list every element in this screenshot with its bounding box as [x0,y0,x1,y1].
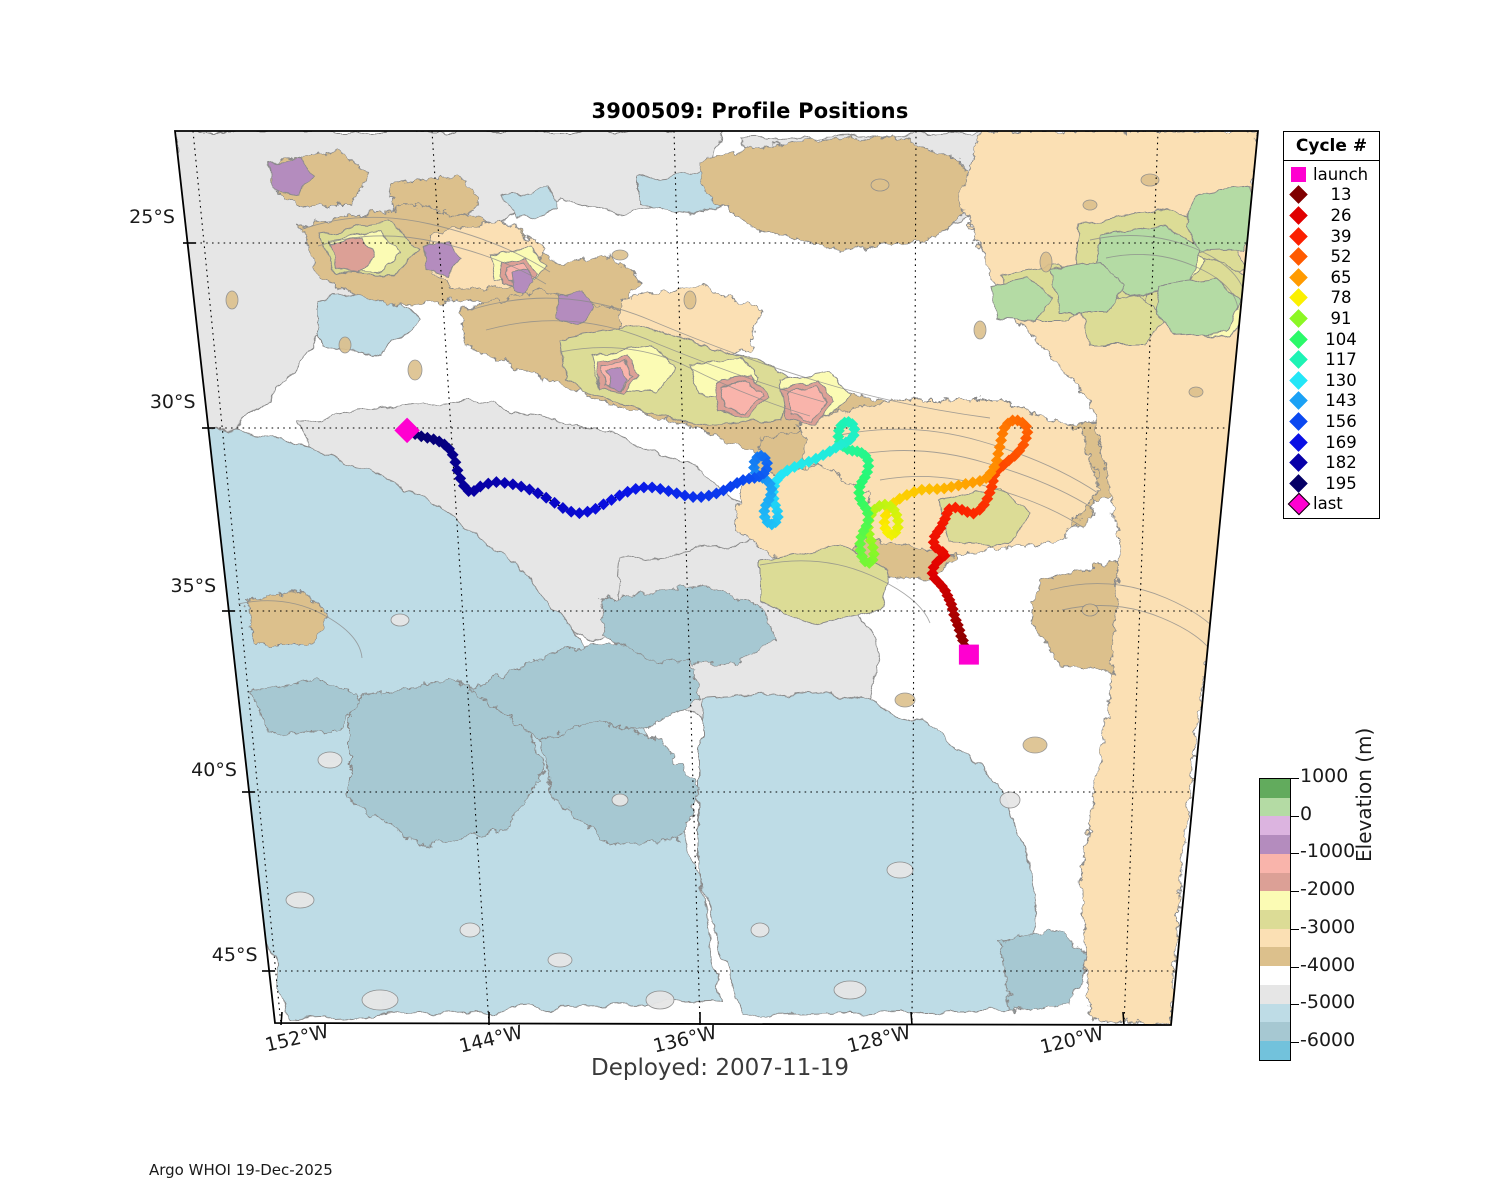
cycle-legend-label-156: 156 [1307,412,1379,431]
elevation-colorbar [1259,778,1291,1061]
cycle-legend-label-143: 143 [1307,391,1379,410]
cycle-legend-row-104[interactable]: 104 [1284,329,1379,350]
cycle-legend-marker-65 [1290,269,1307,286]
cycle-legend-row-143[interactable]: 143 [1284,391,1379,412]
colorbar-tick--5000: -5000 [1300,991,1355,1013]
deployed-label: Deployed: 2007-11-19 [360,1055,1080,1081]
colorbar-band--1500 [1260,873,1290,892]
lat-tick-label-4: 45°S [176,944,258,966]
colorbar-band-500 [1260,798,1290,817]
colorbar-band--3000 [1260,929,1290,948]
colorbar-tick--1000: -1000 [1300,840,1355,862]
cycle-legend-label-last: last [1307,494,1379,513]
cycle-legend-marker-91 [1290,310,1307,327]
cycle-legend-row-130[interactable]: 130 [1284,370,1379,391]
cycle-legend-label-39: 39 [1307,227,1379,246]
cycle-legend-row-91[interactable]: 91 [1284,308,1379,329]
lat-tick-label-2: 35°S [134,575,216,597]
colorbar-band--3500 [1260,947,1290,966]
cycle-legend-row-last[interactable]: last [1284,494,1379,515]
colorbar-tick-0: 0 [1300,803,1312,825]
cycle-legend-row-156[interactable]: 156 [1284,411,1379,432]
footer-credit: Argo WHOI 19-Dec-2025 [149,1161,333,1179]
cycle-legend-marker-195 [1290,475,1307,492]
cycle-legend-label-117: 117 [1307,350,1379,369]
colorbar-band--4500 [1260,985,1290,1004]
cycle-legend-marker-78 [1290,289,1307,306]
cycle-legend-label-78: 78 [1307,288,1379,307]
colorbar-band--1000 [1260,854,1290,873]
colorbar-axis-label: Elevation (m) [1352,728,1376,862]
cycle-legend-row-26[interactable]: 26 [1284,205,1379,226]
cycle-legend-row-182[interactable]: 182 [1284,452,1379,473]
cycle-legend-marker-52 [1290,248,1307,265]
cycle-legend-marker-130 [1290,372,1307,389]
colorbar-band--5000 [1260,1004,1290,1023]
colorbar-tickmark--4000 [1291,967,1299,968]
cycle-legend-title: Cycle # [1284,132,1379,161]
cycle-legend-label-65: 65 [1307,268,1379,287]
cycle-legend-row-78[interactable]: 78 [1284,288,1379,309]
cycle-legend-label-130: 130 [1307,371,1379,390]
cycle-legend: Cycle # launch13263952657891104117130143… [1283,131,1380,519]
colorbar-tick--3000: -3000 [1300,916,1355,938]
colorbar-tick--6000: -6000 [1300,1029,1355,1051]
cycle-legend-label-195: 195 [1307,474,1379,493]
cycle-legend-marker-13 [1290,186,1307,203]
cycle-legend-marker-26 [1290,207,1307,224]
cycle-legend-label-26: 26 [1307,206,1379,225]
colorbar-band--2000 [1260,891,1290,910]
cycle-legend-row-39[interactable]: 39 [1284,226,1379,247]
colorbar-tick-1000: 1000 [1300,765,1348,787]
cycle-legend-marker-117 [1290,351,1307,368]
terrain-fill [170,125,1265,1030]
cycle-legend-label-52: 52 [1307,247,1379,266]
colorbar-tick--4000: -4000 [1300,954,1355,976]
cycle-legend-label-launch: launch [1307,165,1379,184]
cycle-legend-row-13[interactable]: 13 [1284,185,1379,206]
colorbar-tickmark-1000 [1291,778,1299,779]
colorbar-tick--2000: -2000 [1300,878,1355,900]
cycle-legend-marker-169 [1290,434,1307,451]
cycle-legend-marker-143 [1290,392,1307,409]
colorbar-band-1000 [1260,779,1290,798]
cycle-legend-marker-last [1290,495,1307,512]
cycle-legend-label-104: 104 [1307,330,1379,349]
colorbar-tickmark--5000 [1291,1004,1299,1005]
lat-tick-label-3: 40°S [155,759,237,781]
lat-tick-label-0: 25°S [93,206,175,228]
colorbar-tickmark-0 [1291,816,1299,817]
cycle-legend-row-117[interactable]: 117 [1284,349,1379,370]
colorbar-band--4000 [1260,966,1290,985]
colorbar-band--500 [1260,835,1290,854]
colorbar-tickmark--1000 [1291,853,1299,854]
colorbar-tickmark--3000 [1291,929,1299,930]
cycle-legend-row-195[interactable]: 195 [1284,473,1379,494]
cycle-legend-row-169[interactable]: 169 [1284,432,1379,453]
cycle-legend-row-52[interactable]: 52 [1284,246,1379,267]
colorbar-band--5500 [1260,1022,1290,1041]
cycle-legend-label-169: 169 [1307,433,1379,452]
launch-marker [959,645,979,665]
colorbar-band--2500 [1260,910,1290,929]
cycle-legend-row-launch[interactable]: launch [1284,164,1379,185]
cycle-legend-marker-launch [1290,166,1307,183]
cycle-legend-row-65[interactable]: 65 [1284,267,1379,288]
colorbar-tickmark--2000 [1291,891,1299,892]
cycle-legend-label-182: 182 [1307,453,1379,472]
colorbar-tickmark--6000 [1291,1042,1299,1043]
cycle-legend-marker-104 [1290,331,1307,348]
lat-tick-label-1: 30°S [114,391,196,413]
cycle-legend-label-91: 91 [1307,309,1379,328]
cycle-legend-marker-39 [1290,228,1307,245]
colorbar-band--6000 [1260,1041,1290,1060]
cycle-legend-marker-182 [1290,454,1307,471]
cycle-legend-items: launch1326395265789110411713014315616918… [1284,161,1379,518]
page-title: 3900509: Profile Positions [0,99,1500,123]
colorbar-band-0 [1260,816,1290,835]
cycle-legend-marker-156 [1290,413,1307,430]
cycle-legend-label-13: 13 [1307,185,1379,204]
